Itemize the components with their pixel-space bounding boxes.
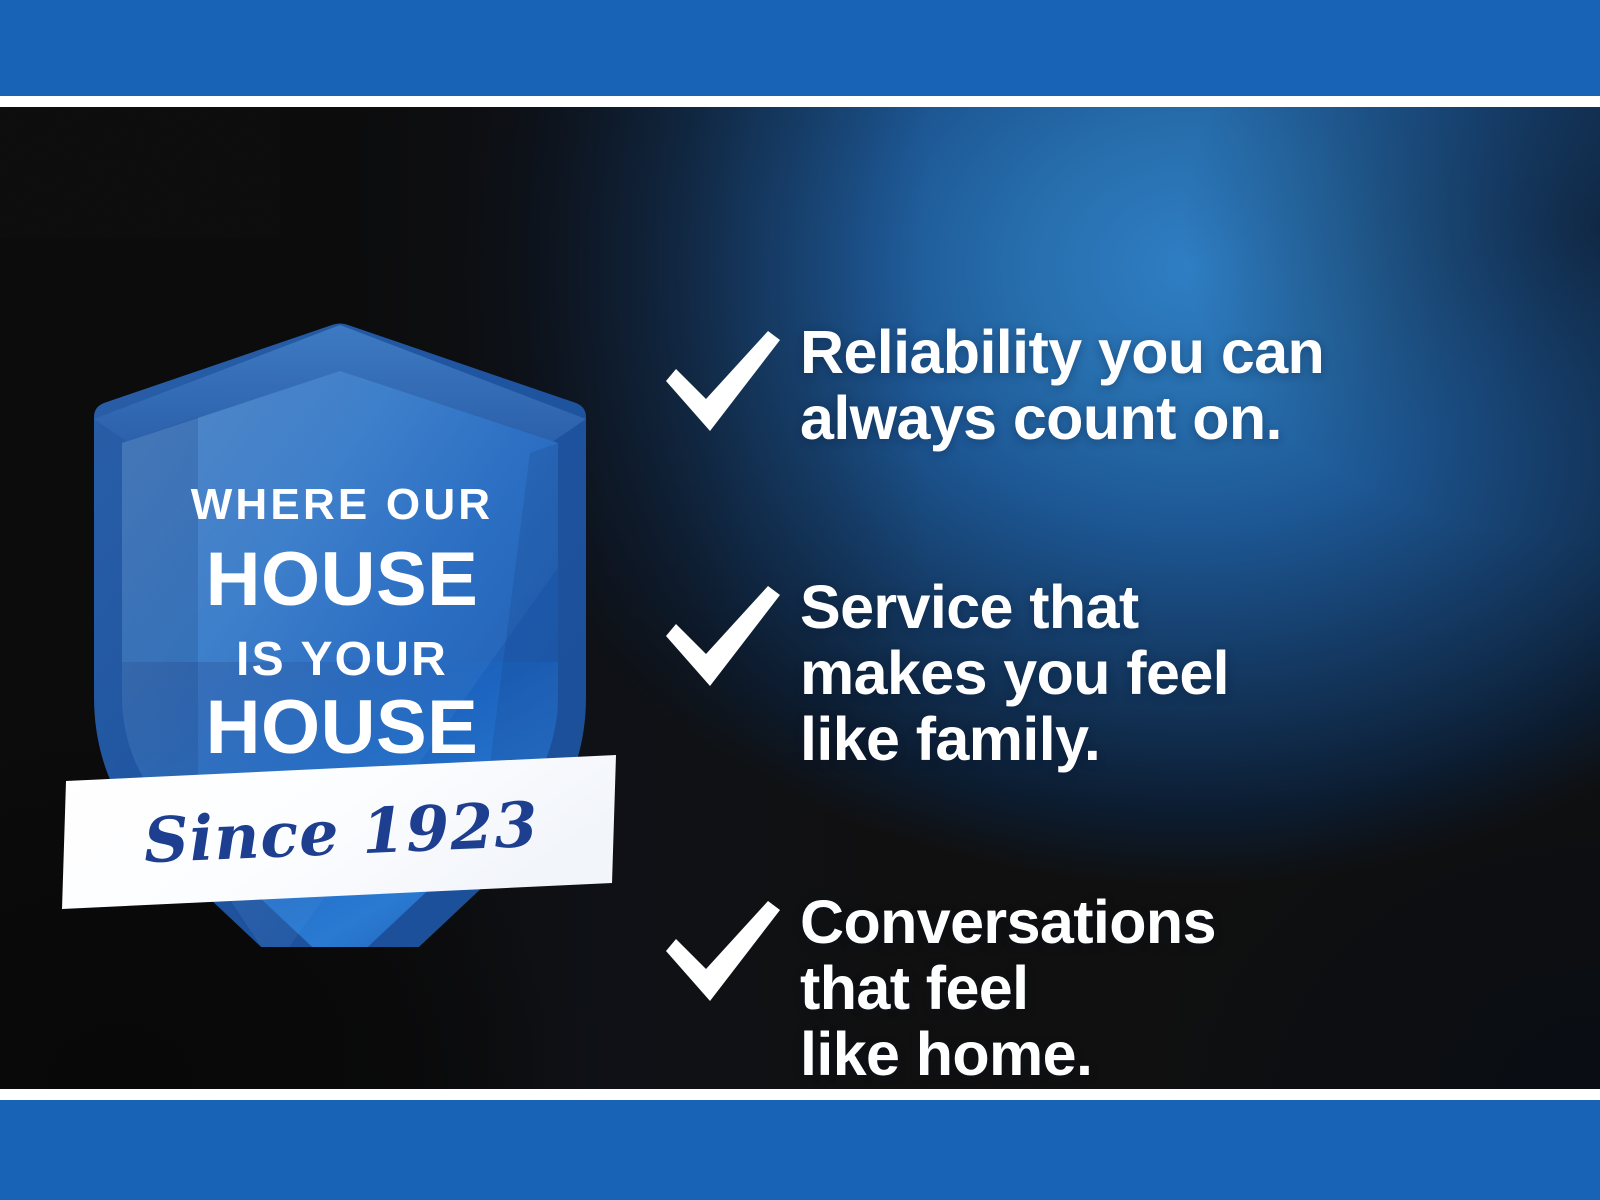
shield-line-2: HOUSE [206, 537, 479, 622]
list-item-text: Conversations that feel like home. [800, 890, 1216, 1088]
list-item-text: Service that makes you feel like family. [800, 575, 1229, 773]
bottom-brand-band [0, 1100, 1600, 1200]
list-item: Service that makes you feel like family. [660, 569, 1229, 773]
shield-logo: WHERE OUR HOUSE IS YOUR HOUSE Since 1923 [60, 267, 620, 947]
banner-canvas: WHERE OUR HOUSE IS YOUR HOUSE Since 1923 [0, 107, 1600, 1089]
bottom-white-divider [0, 1089, 1600, 1100]
list-item-text: Reliability you can always count on. [800, 320, 1324, 452]
list-item: Reliability you can always count on. [660, 314, 1324, 452]
shield-line-3: IS YOUR [236, 633, 448, 686]
shield-line-1: WHERE OUR [191, 480, 494, 529]
promo-banner: WHERE OUR HOUSE IS YOUR HOUSE Since 1923 [0, 0, 1600, 1200]
check-icon [660, 884, 800, 1006]
top-brand-band [0, 0, 1600, 96]
benefit-list: Reliability you can always count on. Ser… [660, 214, 1560, 1089]
check-icon [660, 569, 800, 691]
top-white-divider [0, 96, 1600, 107]
shield-line-4: HOUSE [206, 685, 479, 770]
list-item: Conversations that feel like home. [660, 884, 1216, 1088]
check-icon [660, 314, 800, 436]
shield-ribbon: Since 1923 [62, 755, 616, 909]
